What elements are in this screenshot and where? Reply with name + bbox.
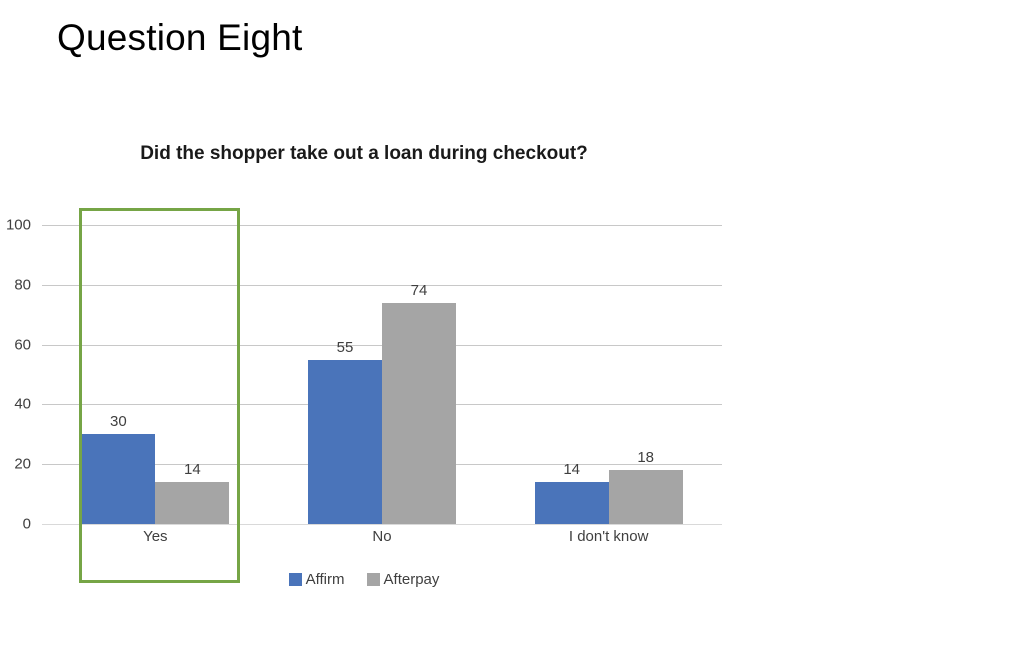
x-axis-category-label: No	[372, 528, 391, 545]
plot-area: 0204060801003014Yes5574No1418I don't kno…	[42, 225, 722, 524]
bar-value-label: 30	[110, 413, 127, 430]
gridline-100	[42, 225, 722, 226]
bar-value-label: 55	[337, 339, 354, 356]
y-axis-tick-label: 60	[14, 336, 31, 353]
bar-value-label: 18	[637, 449, 654, 466]
legend-swatch-icon	[367, 573, 380, 586]
page-title: Question Eight	[57, 16, 303, 60]
legend-label: Afterpay	[384, 571, 440, 588]
bar-afterpay-1[interactable]	[382, 303, 456, 524]
gridline-80	[42, 285, 722, 286]
legend-item-affirm[interactable]: Affirm	[289, 571, 345, 588]
y-axis-tick-label: 20	[14, 456, 31, 473]
gridline-0	[42, 524, 722, 525]
bar-affirm-0[interactable]	[81, 434, 155, 524]
y-axis-tick-label: 80	[14, 276, 31, 293]
bar-value-label: 14	[184, 461, 201, 478]
x-axis-category-label: Yes	[143, 528, 167, 545]
legend-label: Affirm	[306, 571, 345, 588]
legend-item-afterpay[interactable]: Afterpay	[367, 571, 440, 588]
chart-legend: AffirmAfterpay	[0, 571, 728, 588]
bar-affirm-2[interactable]	[535, 482, 609, 524]
bar-afterpay-0[interactable]	[155, 482, 229, 524]
bar-value-label: 74	[411, 282, 428, 299]
y-axis-tick-label: 40	[14, 396, 31, 413]
legend-swatch-icon	[289, 573, 302, 586]
x-axis-category-label: I don't know	[569, 528, 649, 545]
y-axis-tick-label: 100	[6, 217, 31, 234]
bar-affirm-1[interactable]	[308, 360, 382, 524]
bar-chart: Did the shopper take out a loan during c…	[0, 135, 760, 605]
chart-title: Did the shopper take out a loan during c…	[0, 143, 728, 165]
bar-afterpay-2[interactable]	[609, 470, 683, 524]
y-axis-tick-label: 0	[23, 516, 31, 533]
bar-value-label: 14	[563, 461, 580, 478]
